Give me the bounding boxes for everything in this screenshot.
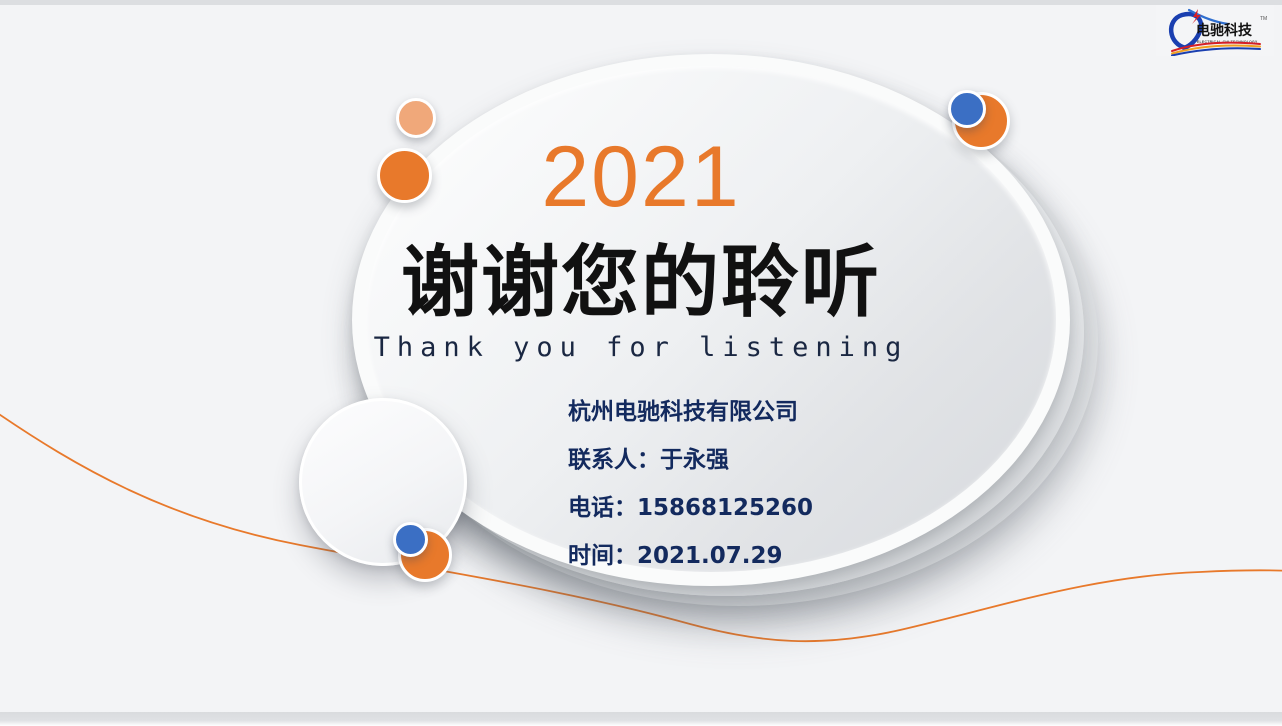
company-logo: 电驰科技 ELECTRICAL CHI TECHNOLOGY TM <box>1156 4 1274 56</box>
year-label: 2021 <box>0 134 1282 220</box>
slide-top-edge <box>0 0 1282 5</box>
contact-person: 联系人：于永强 <box>568 436 1028 484</box>
slide-bottom-edge <box>0 712 1282 726</box>
contact-block: 杭州电驰科技有限公司 联系人：于永强 电话：15868125260 时间：202… <box>568 388 1028 580</box>
logo-brand-cn: 电驰科技 <box>1196 22 1253 39</box>
page-subtitle: Thank you for listening <box>0 334 1282 361</box>
logo-trademark: TM <box>1260 16 1267 22</box>
presentation-slide: 2021 谢谢您的聆听 Thank you for listening 杭州电驰… <box>0 0 1282 726</box>
contact-date: 时间：2021.07.29 <box>568 532 1028 580</box>
company-logo-mark: 电驰科技 ELECTRICAL CHI TECHNOLOGY TM <box>1156 4 1274 56</box>
blue-dot-top-right <box>948 90 986 128</box>
page-title: 谢谢您的聆听 <box>0 244 1282 322</box>
contact-phone: 电话：15868125260 <box>568 484 1028 532</box>
blue-dot-bottom-left <box>393 522 428 557</box>
peach-dot-top-left <box>396 98 436 138</box>
contact-company: 杭州电驰科技有限公司 <box>568 388 1028 436</box>
